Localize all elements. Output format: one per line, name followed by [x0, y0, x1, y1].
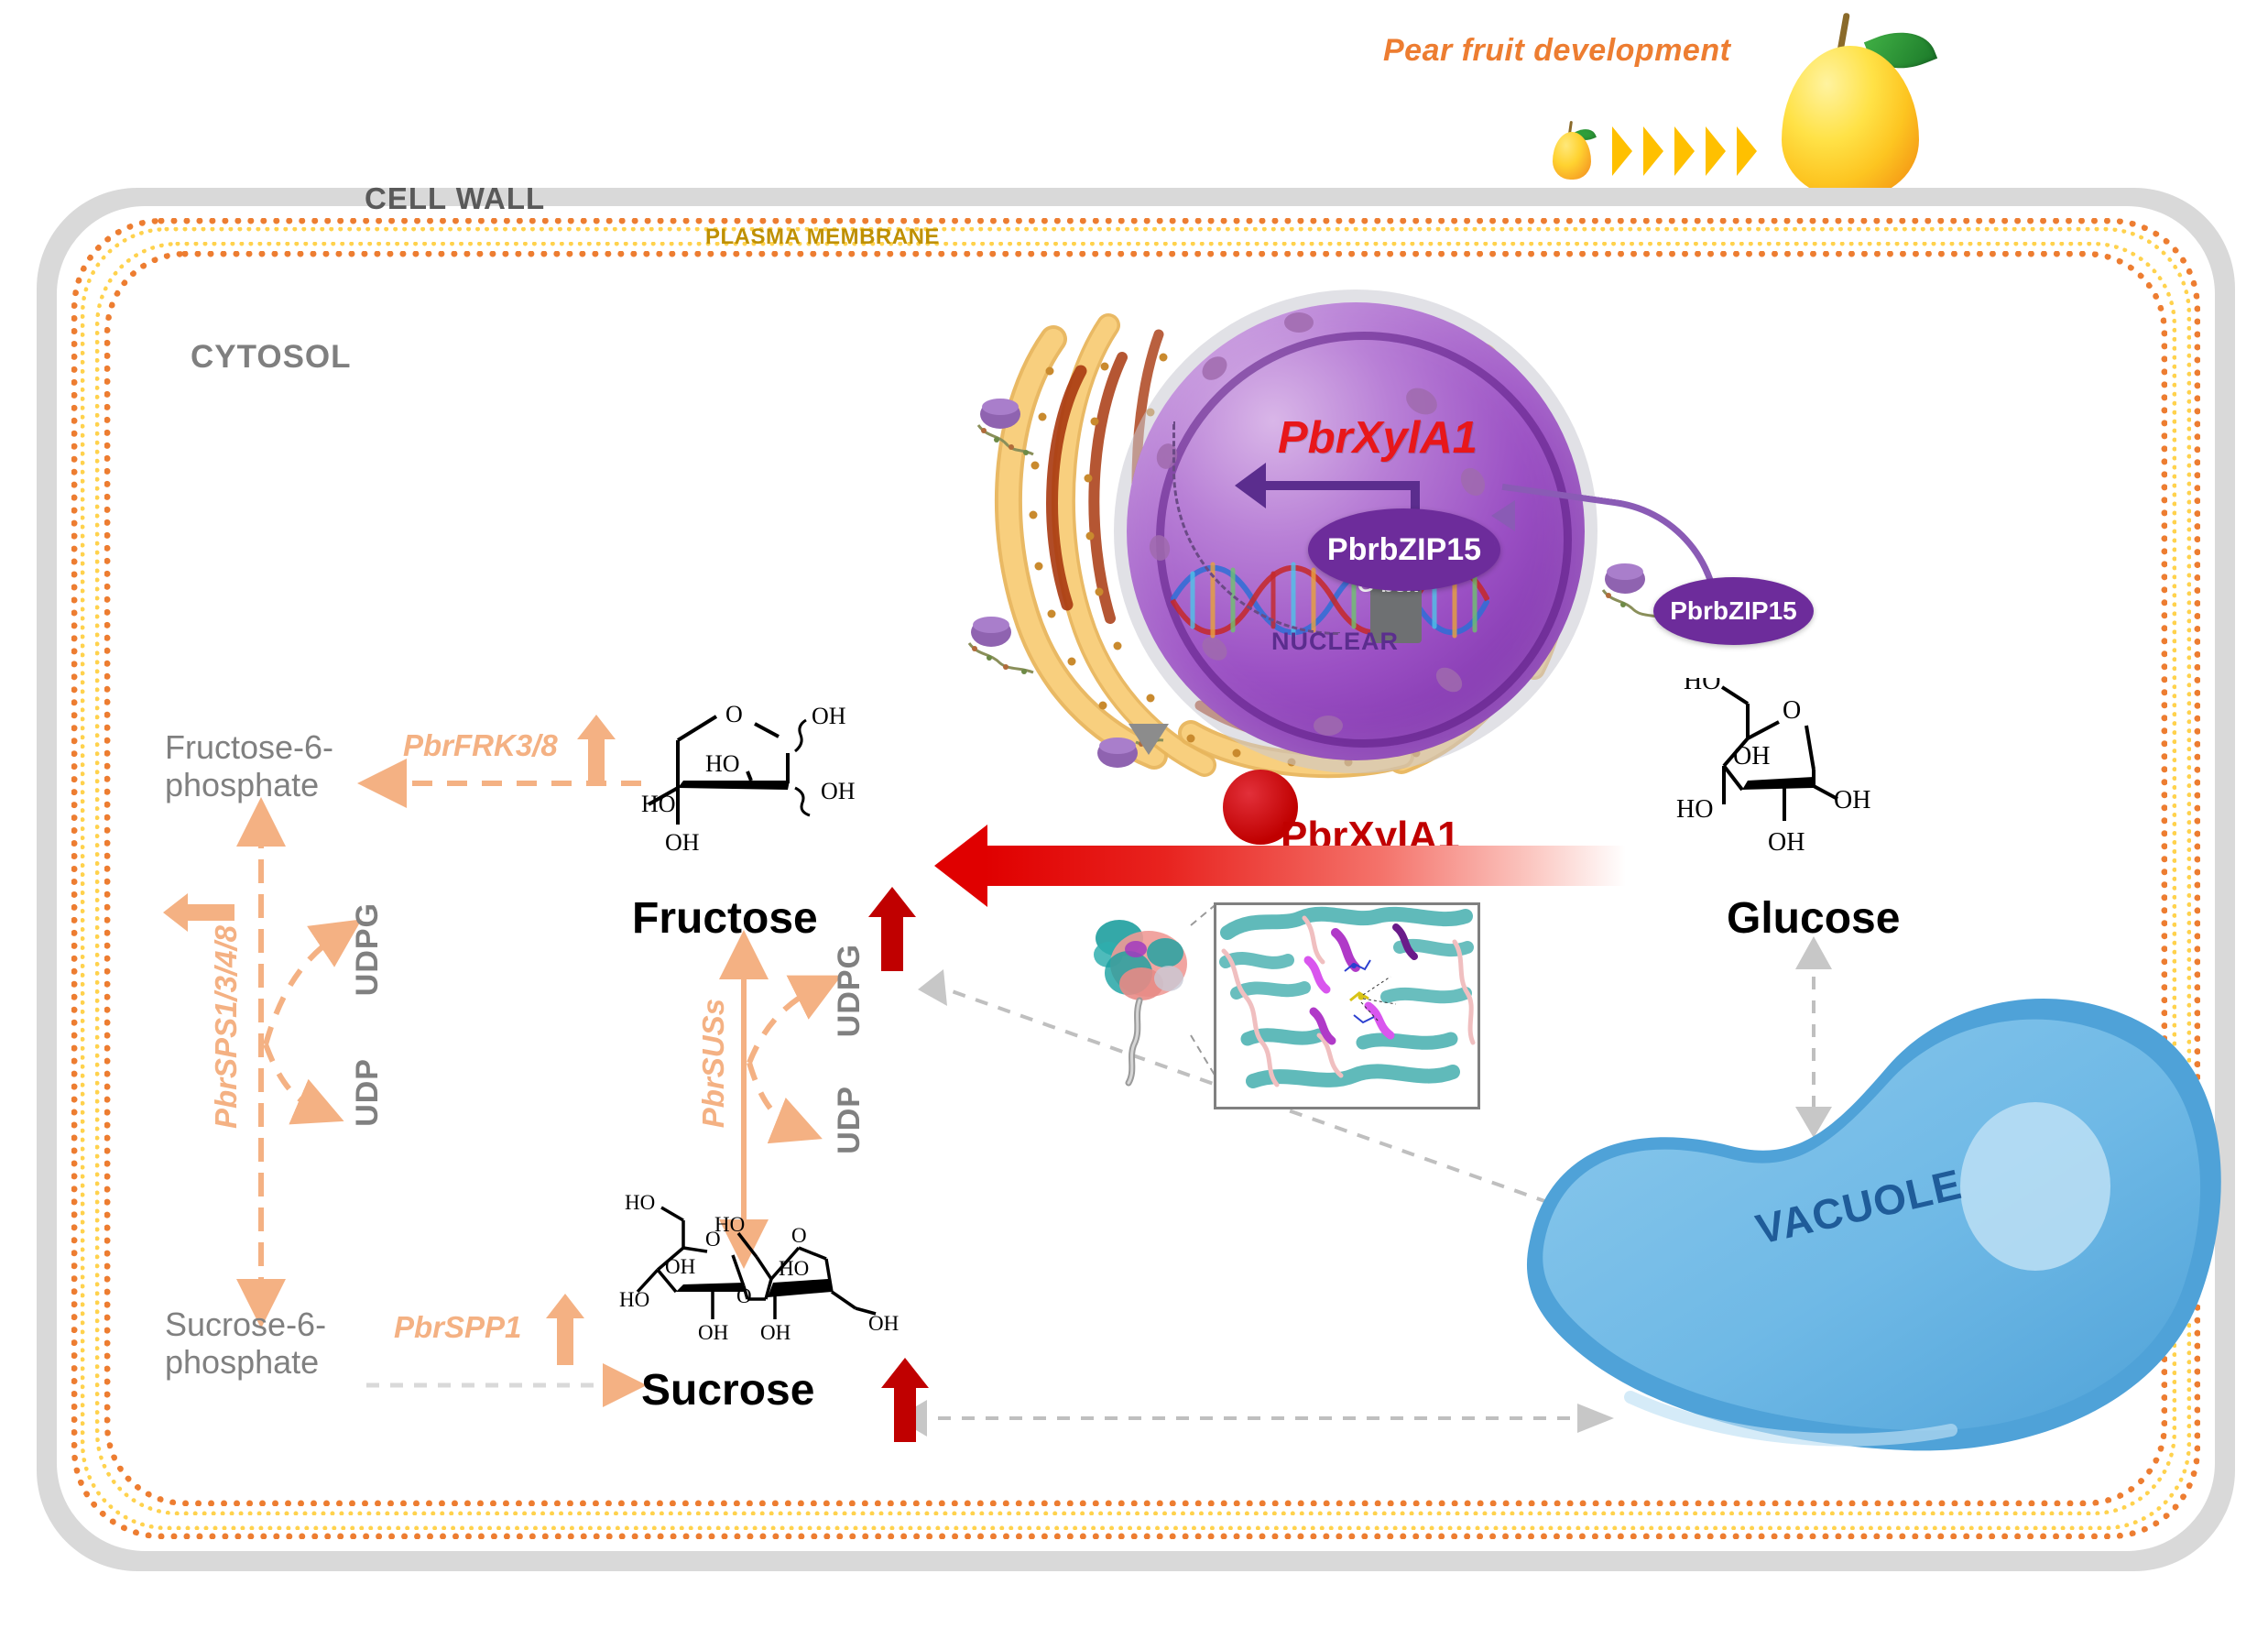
- svg-text:HO: HO: [705, 750, 740, 777]
- udp-left-label: UDP: [350, 1058, 386, 1127]
- growth-chevrons-icon: [1612, 126, 1786, 176]
- svg-text:O: O: [736, 1284, 752, 1307]
- frk-upregulated-arrow-icon: [577, 715, 616, 786]
- sucrose-6-phosphate-label: Sucrose-6- phosphate: [165, 1306, 326, 1382]
- sucrose-label: Sucrose: [641, 1365, 814, 1415]
- svg-text:OH: OH: [1834, 786, 1870, 814]
- pbrxyla1-gene-label: PbrXylA1: [1278, 412, 1477, 464]
- growth-chevron-icon: [1737, 126, 1757, 176]
- large-pear-icon: [1782, 9, 1919, 192]
- pear-fruit-development-title: Pear fruit development: [1383, 33, 1730, 69]
- svg-text:OH: OH: [1733, 742, 1770, 770]
- growth-chevron-icon: [1674, 126, 1695, 176]
- pbrbzip15-cytosolic-badge: PbrbZIP15: [1653, 577, 1814, 645]
- small-pear-icon: [1553, 119, 1591, 180]
- svg-text:O: O: [725, 701, 743, 727]
- svg-text:HO: HO: [1684, 678, 1720, 695]
- plasma-membrane-label: PLASMA MEMBRANE: [705, 224, 940, 250]
- pbrsuss-enzyme-label: PbrSUSs: [696, 999, 731, 1128]
- fructose-increase-arrow-icon: [868, 887, 916, 971]
- glucose-structure-icon: HO O OH OH OH HO: [1676, 678, 1905, 875]
- svg-text:HO: HO: [641, 791, 676, 817]
- nucleus-label: NUCLEAR: [1271, 628, 1399, 656]
- growth-chevron-icon: [1612, 126, 1632, 176]
- glucose-to-fructose-arrow-shaft: [985, 846, 1626, 886]
- glucose-label: Glucose: [1727, 893, 1900, 944]
- pbrxyla1-surface-model-icon: [1081, 916, 1218, 1090]
- glucose-to-fructose-arrow-head-icon: [934, 825, 987, 907]
- udpg-left-label: UDPG: [350, 902, 386, 996]
- sucrose-increase-arrow-icon: [881, 1358, 929, 1442]
- pbrfrk-enzyme-label: PbrFRK3/8: [403, 728, 558, 763]
- pbrxyla1-active-site-inset: [1214, 902, 1480, 1109]
- svg-text:HO: HO: [714, 1213, 745, 1236]
- spp-upregulated-arrow-icon: [546, 1294, 584, 1365]
- large-pear-body: [1782, 46, 1919, 198]
- svg-text:HO: HO: [619, 1288, 649, 1311]
- svg-text:HO: HO: [779, 1257, 809, 1280]
- pbrspp1-enzyme-label: PbrSPP1: [394, 1310, 521, 1345]
- svg-text:O: O: [1783, 696, 1801, 725]
- udpg-right-label: UDPG: [832, 944, 867, 1037]
- sucrose-structure-icon: HO O OH HO OH HO O O HO OH OH: [605, 1191, 907, 1351]
- svg-text:OH: OH: [665, 829, 700, 856]
- pbrbzip15-import-arrowhead-icon: [1491, 500, 1515, 531]
- svg-text:OH: OH: [698, 1321, 728, 1344]
- svg-text:OH: OH: [1768, 828, 1805, 857]
- growth-chevron-icon: [1706, 126, 1726, 176]
- svg-text:HO: HO: [625, 1191, 655, 1214]
- fructose-6-phosphate-label: Fructose-6- phosphate: [165, 728, 333, 804]
- svg-text:OH: OH: [760, 1321, 791, 1344]
- svg-text:OH: OH: [665, 1255, 695, 1278]
- udp-right-label: UDP: [832, 1086, 867, 1154]
- activation-arrow-head-icon: [1235, 463, 1266, 508]
- cytosol-label: CYTOSOL: [191, 339, 352, 376]
- growth-chevron-icon: [1643, 126, 1663, 176]
- ribosome-polysome-icon: [971, 394, 1044, 463]
- ribosome-polysome-icon: [964, 614, 1046, 683]
- cell-wall-label: CELL WALL: [365, 181, 545, 216]
- svg-text:HO: HO: [1676, 795, 1713, 824]
- pbrbzip15-bound-badge: PbrbZIP15: [1308, 508, 1500, 591]
- svg-text:OH: OH: [868, 1312, 899, 1335]
- fructose-label: Fructose: [632, 893, 818, 944]
- svg-text:OH: OH: [821, 778, 856, 804]
- svg-text:O: O: [791, 1224, 807, 1247]
- fructose-structure-icon: O OH OH HO HO OH: [641, 696, 879, 875]
- activation-arrow-horizontal: [1262, 481, 1414, 490]
- pbrsps-enzyme-label: PbrSPS1/3/4/8: [209, 925, 244, 1129]
- svg-text:OH: OH: [812, 703, 846, 729]
